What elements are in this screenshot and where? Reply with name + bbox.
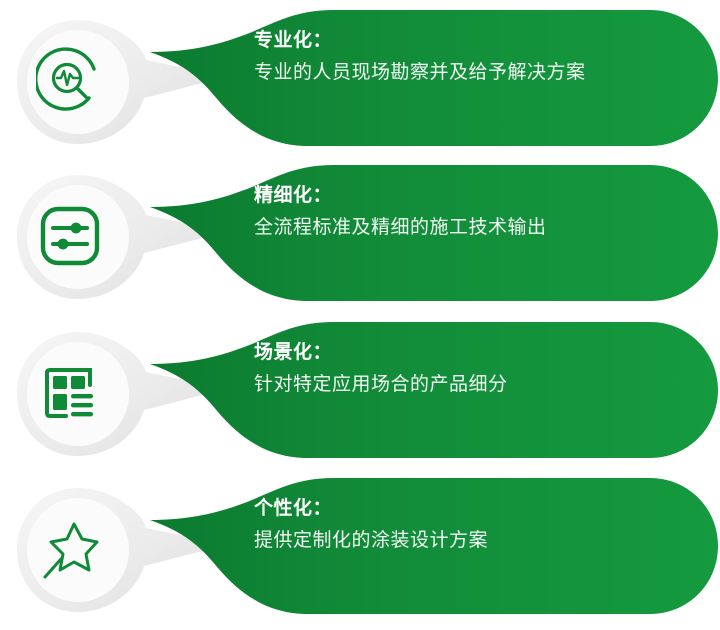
feature-row: 场景化： 针对特定应用场合的产品细分 bbox=[0, 312, 720, 467]
feature-title: 个性化： bbox=[254, 494, 694, 524]
feature-row: 个性化： 提供定制化的涂装设计方案 bbox=[0, 468, 720, 623]
feature-title: 场景化： bbox=[254, 338, 694, 368]
infographic-container: 专业化： 专业的人员现场勘察并及给予解决方案 bbox=[0, 0, 720, 630]
feature-body: 针对特定应用场合的产品细分 bbox=[254, 368, 694, 402]
feature-text-block: 专业化： 专业的人员现场勘察并及给予解决方案 bbox=[254, 26, 694, 90]
feature-body: 全流程标准及精细的施工技术输出 bbox=[254, 211, 694, 245]
feature-text-block: 场景化： 针对特定应用场合的产品细分 bbox=[254, 338, 694, 402]
feature-row: 精细化： 全流程标准及精细的施工技术输出 bbox=[0, 155, 720, 310]
feature-row: 专业化： 专业的人员现场勘察并及给予解决方案 bbox=[0, 0, 720, 155]
feature-body: 专业的人员现场勘察并及给予解决方案 bbox=[254, 56, 694, 90]
layout-grid-icon bbox=[36, 359, 104, 427]
magnifier-pulse-icon bbox=[36, 47, 104, 115]
sliders-settings-icon bbox=[36, 202, 104, 270]
feature-text-block: 精细化： 全流程标准及精细的施工技术输出 bbox=[254, 181, 694, 245]
feature-text-block: 个性化： 提供定制化的涂装设计方案 bbox=[254, 494, 694, 558]
magic-wand-star-icon bbox=[36, 515, 104, 583]
feature-title: 专业化： bbox=[254, 26, 694, 56]
feature-title: 精细化： bbox=[254, 181, 694, 211]
feature-body: 提供定制化的涂装设计方案 bbox=[254, 524, 694, 558]
